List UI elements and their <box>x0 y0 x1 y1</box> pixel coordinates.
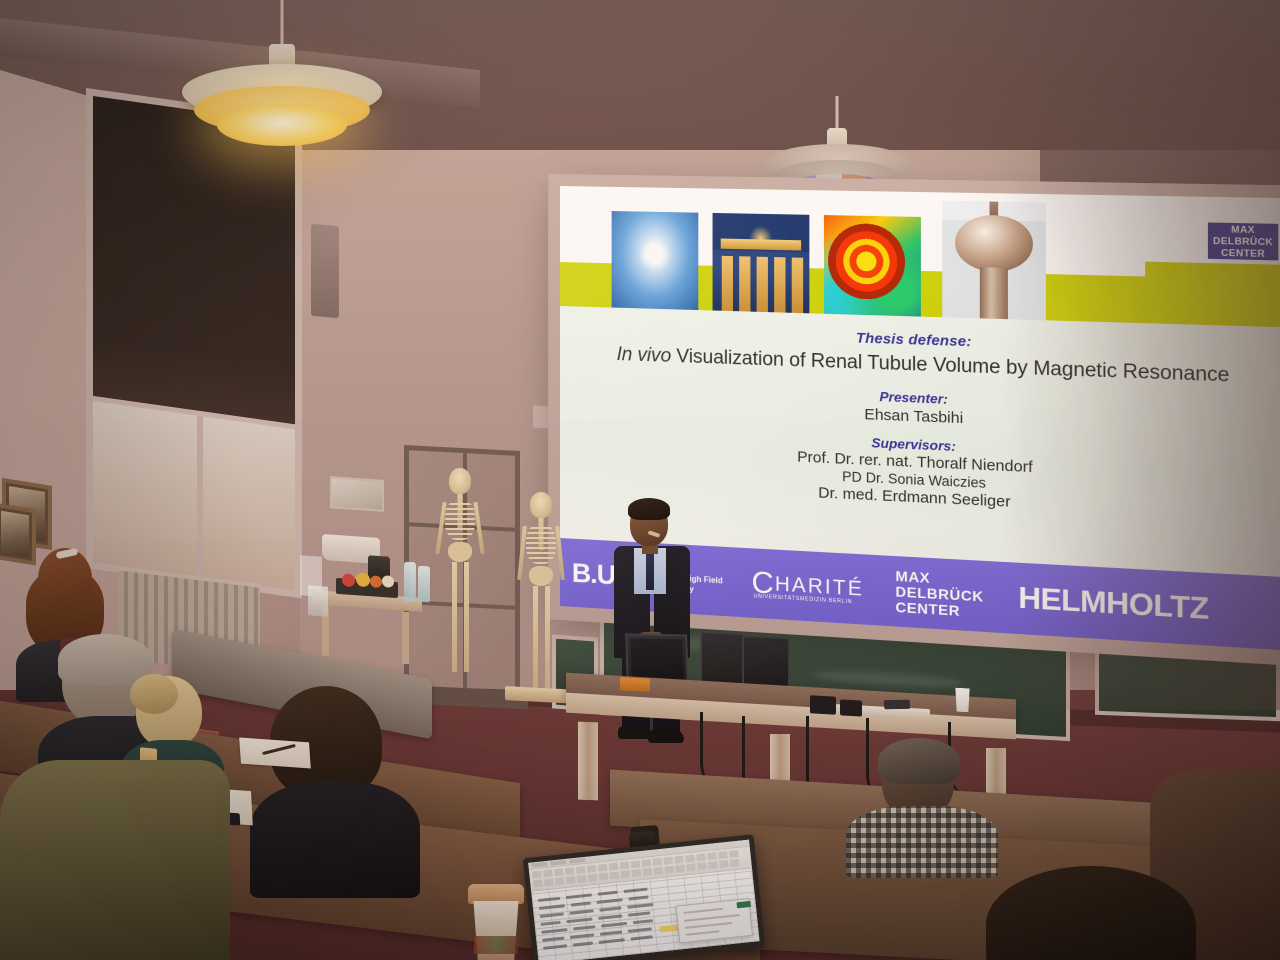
ribcage <box>445 500 475 540</box>
fruit <box>356 572 370 587</box>
ribcage <box>526 524 556 564</box>
window-mullion-vertical <box>197 411 203 578</box>
hair <box>878 738 960 784</box>
audience-member <box>0 760 230 960</box>
power-adapter <box>810 695 836 714</box>
arm-bone <box>555 526 565 580</box>
cup-stack <box>308 585 328 616</box>
lecture-hall-photo: MAX DELBRÜCK CENTER Thesis defense: In v… <box>0 0 1280 960</box>
power-adapter <box>840 699 862 716</box>
presenter-hair <box>628 498 670 520</box>
torso <box>0 760 230 960</box>
skeleton-in-cabinet <box>430 468 490 683</box>
brandenburg-gate-image <box>713 213 810 313</box>
mri-brain-image <box>612 211 699 310</box>
head <box>986 866 1196 960</box>
wall-speaker <box>311 224 339 318</box>
water-bottle <box>404 562 416 603</box>
checkered-shirt <box>846 806 998 878</box>
pelvis <box>448 542 472 562</box>
remote-control[interactable] <box>884 700 911 709</box>
lamp-cord <box>281 0 284 48</box>
fruit <box>370 575 382 588</box>
pelvis <box>529 566 553 586</box>
fruit <box>382 575 394 588</box>
skull <box>449 468 471 494</box>
takeaway-coffee-cup <box>470 884 522 960</box>
titlebar-tab <box>569 858 585 864</box>
hair-bun <box>130 674 178 714</box>
necktie <box>646 550 654 590</box>
titlebar-tab <box>550 860 566 866</box>
wall-mirror <box>330 476 384 512</box>
arm-bone <box>517 526 527 580</box>
desk-leg <box>578 722 598 801</box>
leg-bone <box>533 586 538 692</box>
pendant-lamp-lit <box>182 0 382 160</box>
audience-member <box>986 866 1216 960</box>
skeleton-on-stand <box>512 492 570 700</box>
shoe <box>648 730 684 743</box>
cup-label <box>474 936 518 954</box>
corner-shadow <box>1000 150 1280 710</box>
window <box>86 88 302 598</box>
paper-sheet <box>239 737 311 768</box>
title-italic-part: In vivo <box>617 344 672 367</box>
shoe <box>618 726 652 739</box>
quadriga-statue <box>749 225 772 241</box>
fruit <box>342 573 355 587</box>
titlebar-tab <box>531 862 547 868</box>
charite-logo: C HARITÉ UNIVERSITÄTSMEDIZIN BERLIN <box>751 570 863 603</box>
table-leg <box>402 612 409 664</box>
audience-member <box>250 686 420 886</box>
mdc-footer-logo: MAX DELBRÜCK CENTER <box>895 568 983 620</box>
orange-box[interactable] <box>620 677 650 692</box>
arm-bone <box>473 502 484 554</box>
leg-bone <box>545 586 550 692</box>
leg-bone <box>452 562 457 672</box>
water-bottle <box>418 566 430 603</box>
torso <box>250 782 420 898</box>
parametric-mri-map-image <box>824 215 921 317</box>
audience-member <box>846 742 998 872</box>
lamp-glow <box>217 104 347 146</box>
laptop-screen <box>630 639 683 682</box>
skull <box>530 492 552 518</box>
leg-bone <box>464 562 469 672</box>
lamp-cord <box>836 96 839 132</box>
